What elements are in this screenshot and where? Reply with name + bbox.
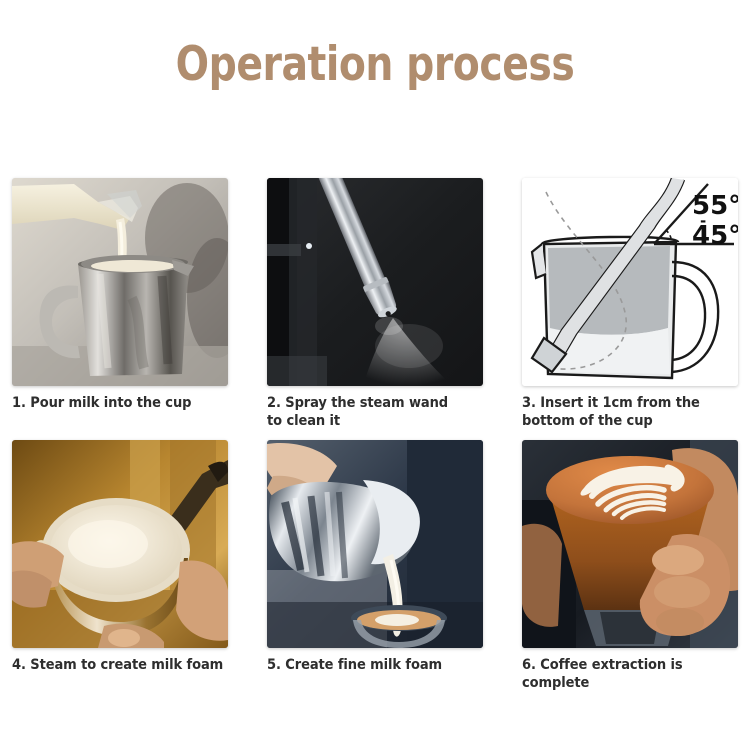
step-image-3: 55° - 45° <box>522 178 738 386</box>
step-caption-6: 6. Coffee extraction is complete <box>522 657 738 692</box>
step-image-1 <box>12 178 228 386</box>
steps-grid: 1. Pour milk into the cup <box>12 178 738 693</box>
step-caption-5: 5. Create fine milk foam <box>267 657 483 675</box>
operation-process-infographic: Operation process <box>0 0 750 750</box>
page-title: Operation process <box>26 40 724 89</box>
step-image-5 <box>267 440 483 648</box>
step-card-2: 2. Spray the steam wand to clean it <box>267 178 483 430</box>
step-card-6: 6. Coffee extraction is complete <box>522 440 738 692</box>
step-caption-2: 2. Spray the steam wand to clean it <box>267 395 483 430</box>
step-caption-3: 3. Insert it 1cm from the bottom of the … <box>522 395 738 430</box>
step-caption-4: 4. Steam to create milk foam <box>12 657 228 675</box>
step-card-4: 4. Steam to create milk foam <box>12 440 228 692</box>
step-card-3: 55° - 45° 3. Insert it 1cm from the bott… <box>522 178 738 430</box>
step-caption-1: 1. Pour milk into the cup <box>12 395 228 413</box>
angle-label-upper: 55° <box>692 191 738 221</box>
step-image-6 <box>522 440 738 648</box>
angle-label-lower: 45° <box>692 221 738 251</box>
step-card-1: 1. Pour milk into the cup <box>12 178 228 430</box>
step-image-2 <box>267 178 483 386</box>
step-card-5: 5. Create fine milk foam <box>267 440 483 692</box>
step-image-4 <box>12 440 228 648</box>
